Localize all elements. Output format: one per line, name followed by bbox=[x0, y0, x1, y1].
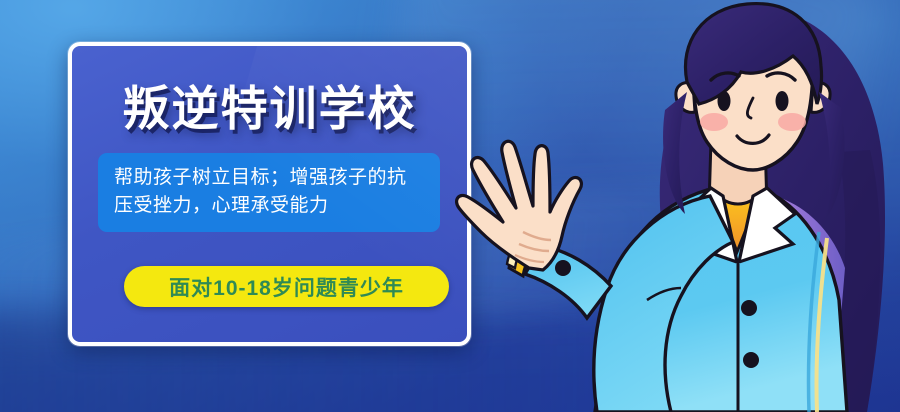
audience-badge: 面对10-18岁问题青少年 bbox=[124, 266, 449, 307]
jacket-button bbox=[743, 352, 759, 368]
eye-left bbox=[718, 91, 731, 111]
eye-right bbox=[776, 91, 789, 111]
promo-banner: 叛逆特训学校 帮助孩子树立目标；增强孩子的抗 压受挫力，心理承受能力 面对10-… bbox=[0, 0, 900, 412]
cuff-button bbox=[555, 260, 571, 276]
subtitle-line-1: 帮助孩子树立目标；增强孩子的抗 bbox=[114, 164, 424, 192]
subtitle-panel: 帮助孩子树立目标；增强孩子的抗 压受挫力，心理承受能力 bbox=[98, 153, 440, 232]
headline-card: 叛逆特训学校 帮助孩子树立目标；增强孩子的抗 压受挫力，心理承受能力 面对10-… bbox=[68, 42, 471, 346]
jacket-button bbox=[741, 300, 757, 316]
banner-title: 叛逆特训学校 bbox=[72, 70, 467, 139]
blush-left bbox=[700, 113, 728, 131]
audience-badge-label: 面对10-18岁问题青少年 bbox=[169, 272, 404, 302]
blush-right bbox=[778, 113, 806, 131]
subtitle-line-2: 压受挫力，心理承受能力 bbox=[114, 192, 424, 220]
teacher-illustration bbox=[415, 0, 900, 412]
